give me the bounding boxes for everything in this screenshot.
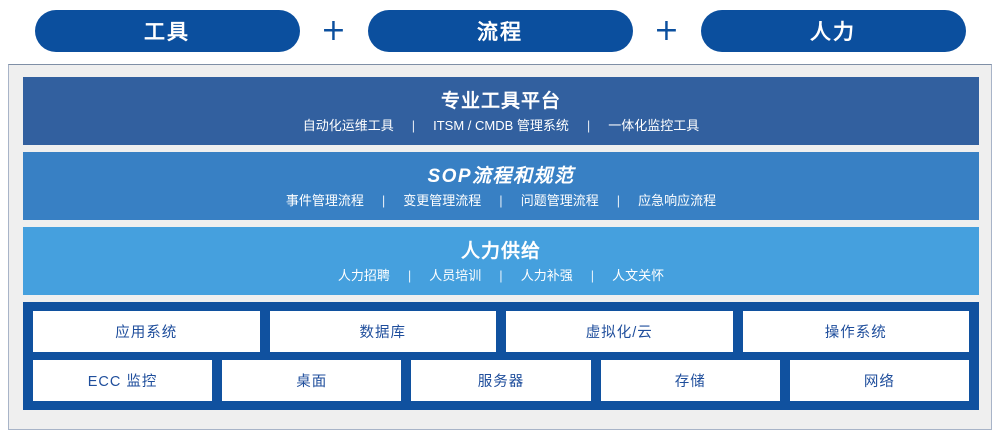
layer-item[interactable]: 一体化监控工具 xyxy=(594,118,713,134)
layer-item[interactable]: 人力招聘 xyxy=(324,268,404,284)
item-separator: | xyxy=(378,193,389,209)
layer-band-tools[interactable]: 专业工具平台 自动化运维工具 | ITSM / CMDB 管理系统 | 一体化监… xyxy=(23,77,979,145)
layer-item[interactable]: 问题管理流程 xyxy=(507,193,613,209)
layer-item[interactable]: 人力补强 xyxy=(507,268,587,284)
layer-item[interactable]: 变更管理流程 xyxy=(389,193,495,209)
layer-item[interactable]: 人文关怀 xyxy=(598,268,678,284)
object-box[interactable]: 数据库 xyxy=(270,311,497,352)
layer-item[interactable]: 人员培训 xyxy=(415,268,495,284)
layer-items-sop: 事件管理流程 | 变更管理流程 | 问题管理流程 | 应急响应流程 xyxy=(272,193,730,209)
item-separator: | xyxy=(408,118,419,134)
item-separator: | xyxy=(613,193,624,209)
layer-items-manpower: 人力招聘 | 人员培训 | 人力补强 | 人文关怀 xyxy=(324,268,678,284)
layer-band-sop[interactable]: SOP流程和规范 事件管理流程 | 变更管理流程 | 问题管理流程 | 应急响应… xyxy=(23,152,979,220)
object-box[interactable]: ECC 监控 xyxy=(33,360,212,401)
item-separator: | xyxy=(404,268,415,284)
layer-band-manpower[interactable]: 人力供给 人力招聘 | 人员培训 | 人力补强 | 人文关怀 xyxy=(23,227,979,295)
layer-title-manpower: 人力供给 xyxy=(461,240,541,264)
plus-operator-2: + xyxy=(633,16,701,46)
managed-objects-container: 应用系统 数据库 虚拟化/云 操作系统 ECC 监控 桌面 服务器 存储 网络 xyxy=(23,302,979,410)
item-separator: | xyxy=(587,268,598,284)
item-separator: | xyxy=(495,268,506,284)
object-box[interactable]: 操作系统 xyxy=(743,311,970,352)
layer-item[interactable]: ITSM / CMDB 管理系统 xyxy=(419,118,583,134)
object-box[interactable]: 桌面 xyxy=(222,360,401,401)
item-separator: | xyxy=(495,193,506,209)
object-box[interactable]: 虚拟化/云 xyxy=(506,311,733,352)
item-separator: | xyxy=(583,118,594,134)
object-box[interactable]: 存储 xyxy=(601,360,780,401)
object-box[interactable]: 应用系统 xyxy=(33,311,260,352)
object-row-2: ECC 监控 桌面 服务器 存储 网络 xyxy=(33,360,969,401)
object-box[interactable]: 网络 xyxy=(790,360,969,401)
diagram-panel: 专业工具平台 自动化运维工具 | ITSM / CMDB 管理系统 | 一体化监… xyxy=(8,64,992,430)
object-row-1: 应用系统 数据库 虚拟化/云 操作系统 xyxy=(33,311,969,352)
layer-title-sop: SOP流程和规范 xyxy=(427,165,574,189)
layer-item[interactable]: 应急响应流程 xyxy=(624,193,730,209)
layer-item[interactable]: 事件管理流程 xyxy=(272,193,378,209)
plus-operator-1: + xyxy=(300,16,368,46)
layer-item[interactable]: 自动化运维工具 xyxy=(289,118,408,134)
layer-title-tools: 专业工具平台 xyxy=(441,90,561,114)
formula-row: 工具 + 流程 + 人力 xyxy=(0,0,1000,62)
layer-items-tools: 自动化运维工具 | ITSM / CMDB 管理系统 | 一体化监控工具 xyxy=(289,118,714,134)
pill-tools-label: 工具 xyxy=(144,16,190,46)
pill-manpower[interactable]: 人力 xyxy=(701,10,966,52)
pill-manpower-label: 人力 xyxy=(810,16,856,46)
object-box[interactable]: 服务器 xyxy=(411,360,590,401)
pill-process[interactable]: 流程 xyxy=(368,10,633,52)
pill-process-label: 流程 xyxy=(477,16,523,46)
pill-tools[interactable]: 工具 xyxy=(35,10,300,52)
